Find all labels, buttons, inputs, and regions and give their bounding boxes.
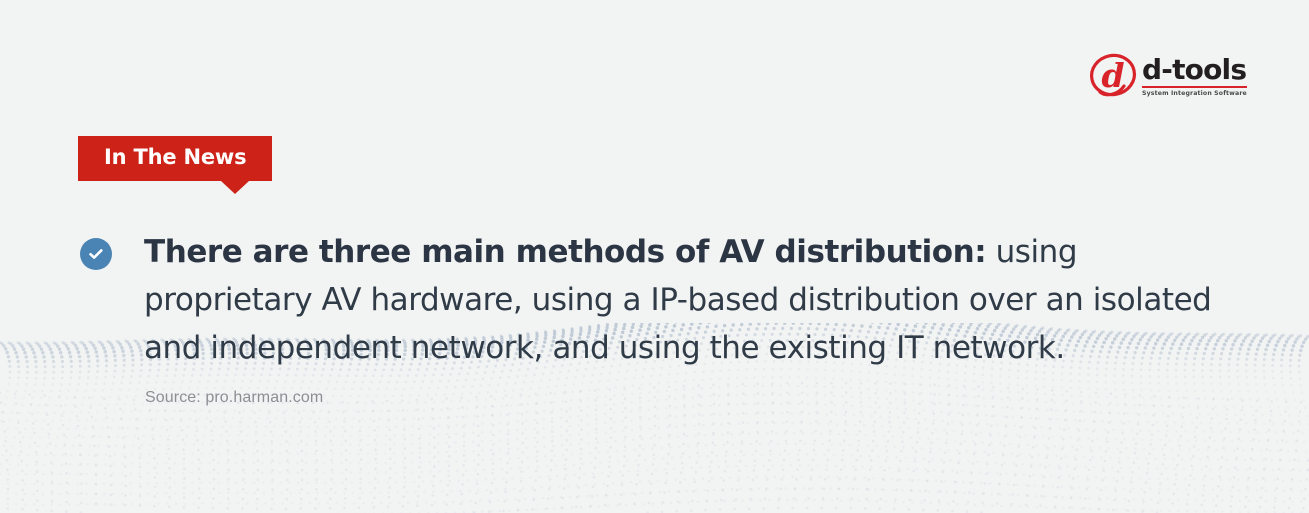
brand-tagline: System Integration Software	[1142, 90, 1247, 97]
badge-body: In The News	[78, 136, 272, 181]
brand-wordmark-group: d-tools System Integration Software	[1142, 56, 1247, 97]
check-circle-icon	[80, 238, 112, 270]
svg-text:d: d	[1101, 56, 1124, 95]
brand-wordmark: d-tools	[1142, 56, 1247, 84]
d-tools-circle-d-mark: d	[1088, 50, 1140, 102]
news-card: d d-tools System Integration Software In…	[0, 0, 1309, 513]
badge-label: In The News	[104, 145, 246, 169]
brand-rule	[1142, 86, 1247, 88]
callout-lead: There are three main methods of AV distr…	[144, 234, 986, 270]
source-attribution: Source: pro.harman.com	[145, 389, 323, 407]
callout-text: There are three main methods of AV distr…	[144, 228, 1254, 372]
badge-pointer-triangle	[221, 181, 249, 194]
brand-logo: d d-tools System Integration Software	[1088, 46, 1238, 106]
in-the-news-badge: In The News	[78, 136, 272, 181]
